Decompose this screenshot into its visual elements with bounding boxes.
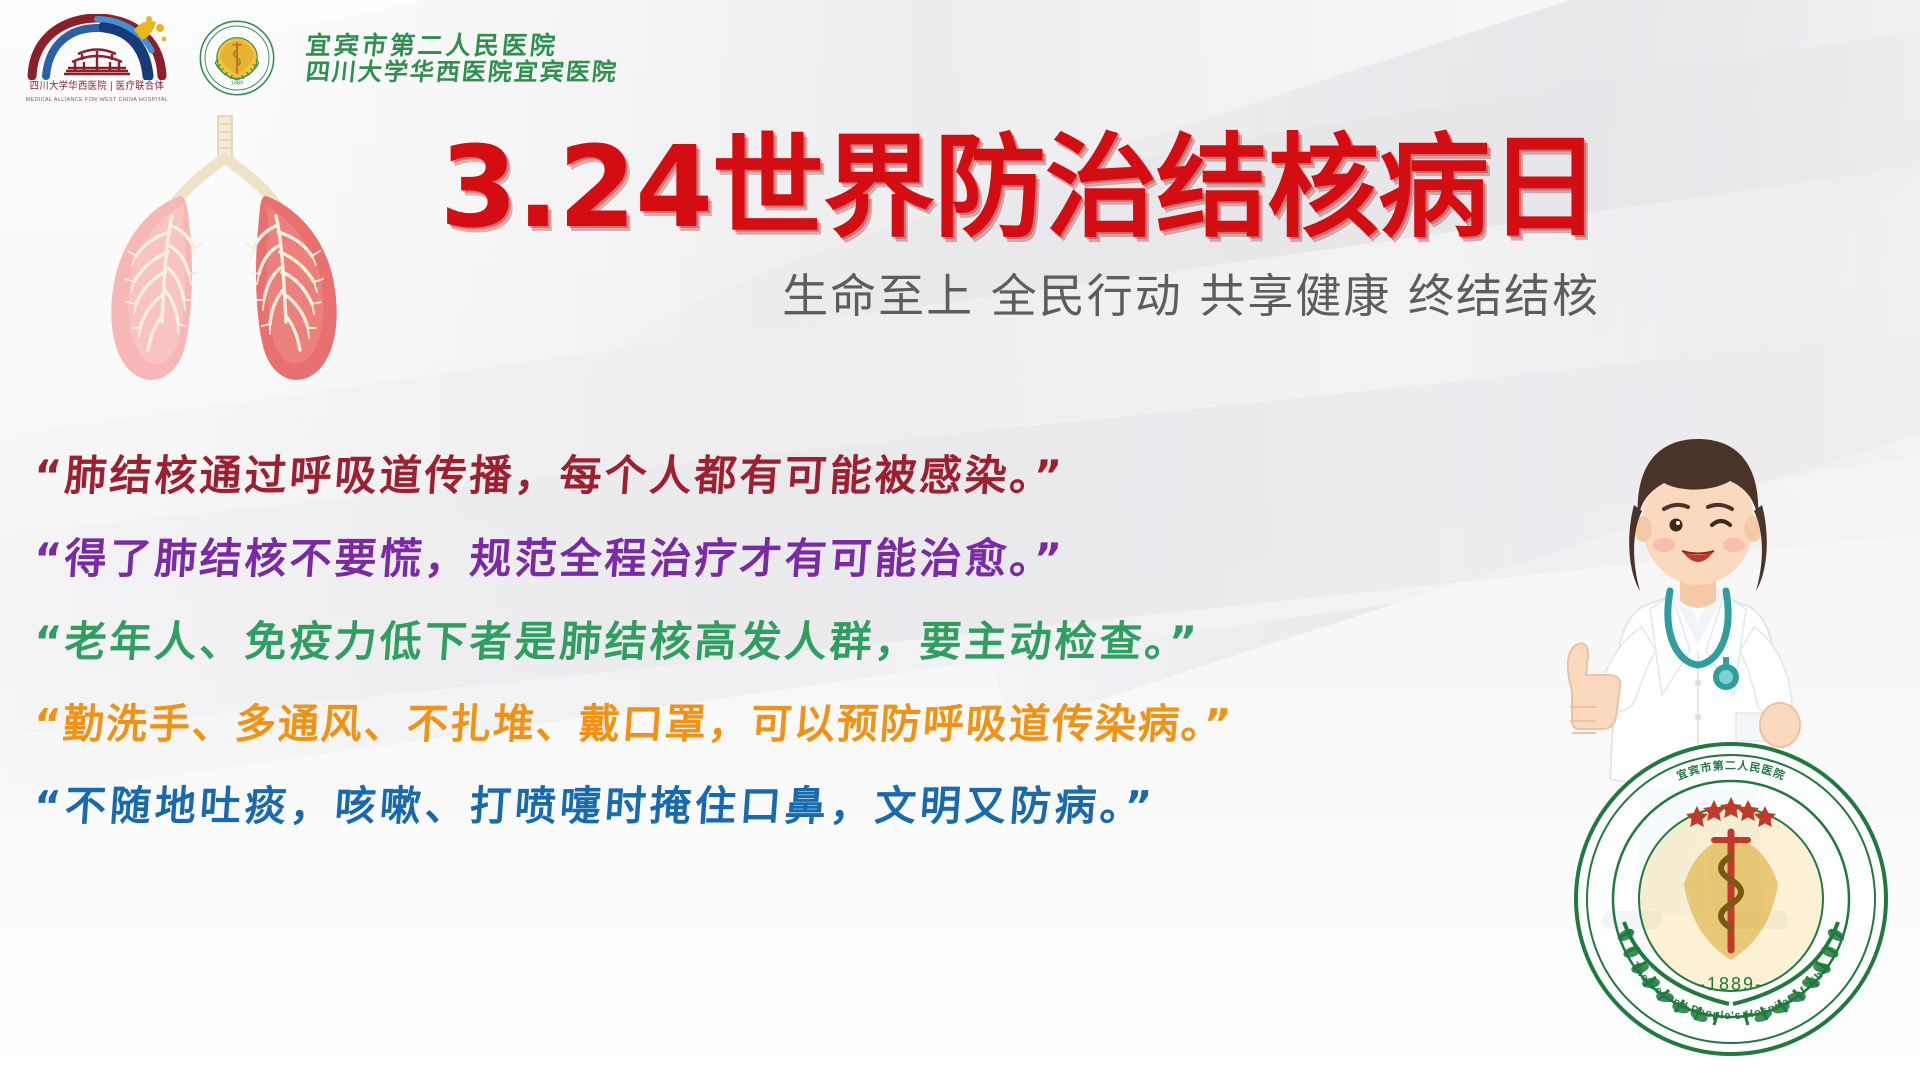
poster-canvas: 四川大学华西医院 | 医疗联合体 MEDICAL ALLIANCE FOR WE… [0,0,1920,1080]
slogan-line-2: “得了肺结核不要慌，规范全程治疗才有可能治愈。” [33,538,1366,580]
lungs-illustration [60,110,390,400]
title-area: 3.24世界防治结核病日 生命至上 全民行动 共享健康 终结结核 [420,132,1600,326]
west-china-logo-caption-cn: 四川大学华西医院 | 医疗联合体 [28,77,166,92]
hospital-name-block: 宜宾市第二人民医院 四川大学华西医院宜宾医院 [306,32,618,85]
seal-year: -1889- [1699,974,1763,994]
west-china-logo-caption-en: MEDICAL ALLIANCE FOR WEST CHINA HOSPITAL [22,97,172,103]
hospital-name-secondary: 四川大学华西医院宜宾医院 [305,59,620,85]
page-title: 3.24世界防治结核病日 [420,132,1600,244]
svg-text:1889: 1889 [231,81,243,87]
thumbs-up-hand-icon [1568,643,1620,733]
slogan-list: “肺结核通过呼吸道传播，每个人都有可能被感染。” “得了肺结核不要慌，规范全程治… [34,455,1364,868]
hospital-name-primary: 宜宾市第二人民医院 [305,32,620,59]
slogan-line-4: “勤洗手、多通风、不扎堆、戴口罩，可以预防呼吸道传染病。” [33,704,1366,745]
yibin-hospital-seal-icon: 1889 [198,19,276,97]
header-logo-bar: 四川大学华西医院 | 医疗联合体 MEDICAL ALLIANCE FOR WE… [22,14,618,102]
hospital-seal-logo-small: 1889 [198,19,276,97]
hospital-round-seal: 宜宾市第二人民医院 The Second People's Hospital o… [1566,734,1896,1064]
slogan-line-5: “不随地吐痰，咳嗽、打喷嚏时掩住口鼻，文明又防病。” [33,786,1366,827]
west-china-alliance-logo: 四川大学华西医院 | 医疗联合体 MEDICAL ALLIANCE FOR WE… [22,14,172,102]
slogan-line-1: “肺结核通过呼吸道传播，每个人都有可能被感染。” [33,455,1366,497]
slogan-line-3: “老年人、免疫力低下者是肺结核高发人群，要主动检查。” [33,621,1366,663]
page-subtitle: 生命至上 全民行动 共享健康 终结结核 [420,260,1600,326]
west-china-hospital-gate-arch-icon [22,14,172,80]
